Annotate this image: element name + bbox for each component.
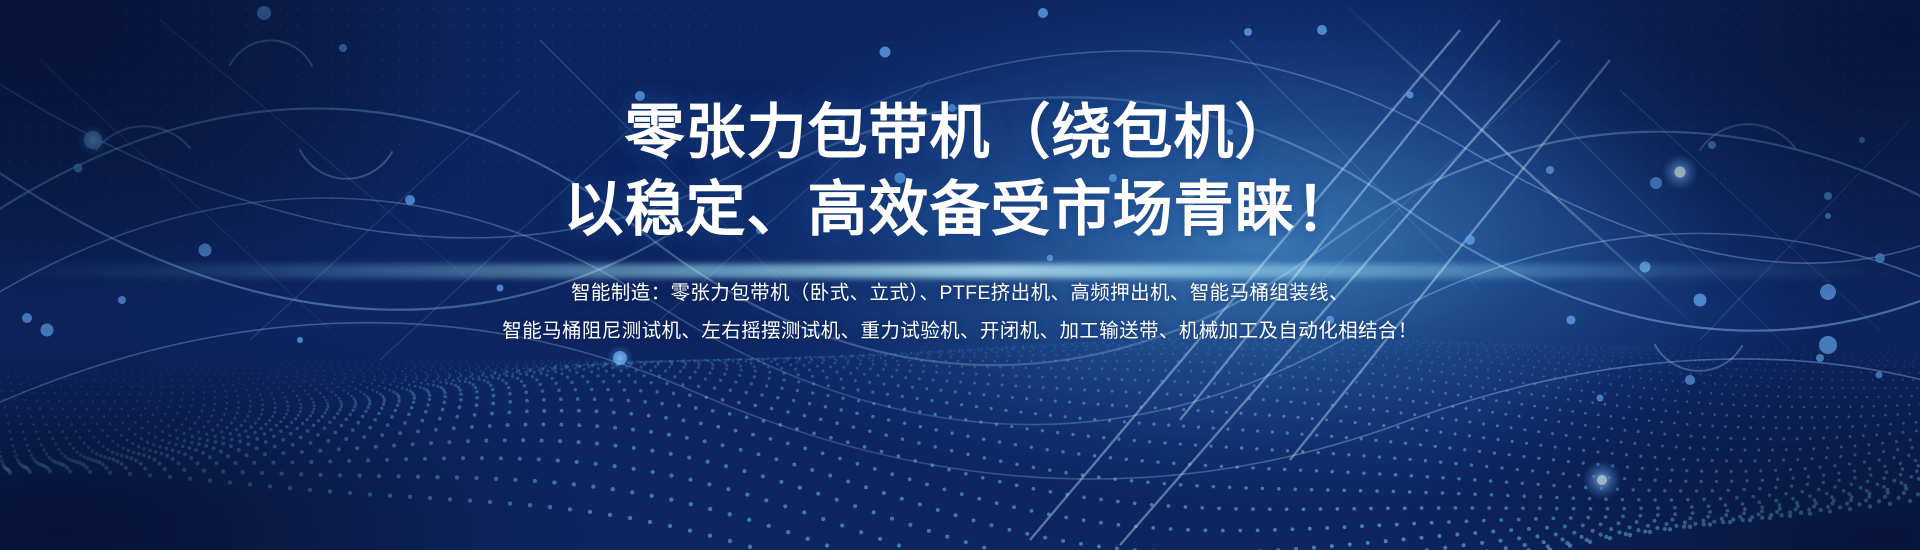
banner-subtitle-line-2: 智能马桶阻尼测试机、左右摇摆测试机、重力试验机、开闭机、加工输送带、机械加工及自… <box>502 312 1417 350</box>
promo-banner: 零张力包带机（绕包机） 以稳定、高效备受市场青睐！ 智能制造：零张力包带机（卧式… <box>0 0 1920 550</box>
banner-content: 零张力包带机（绕包机） 以稳定、高效备受市场青睐！ 智能制造：零张力包带机（卧式… <box>0 0 1920 550</box>
banner-subtitle: 智能制造：零张力包带机（卧式、立式）、PTFE挤出机、高频押出机、智能马桶组装线… <box>502 274 1417 350</box>
banner-subtitle-line-1: 智能制造：零张力包带机（卧式、立式）、PTFE挤出机、高频押出机、智能马桶组装线… <box>502 274 1417 312</box>
banner-title-line-2: 以稳定、高效备受市场青睐！ <box>564 175 1357 246</box>
banner-title-line-1: 零张力包带机（绕包机） <box>625 98 1296 169</box>
